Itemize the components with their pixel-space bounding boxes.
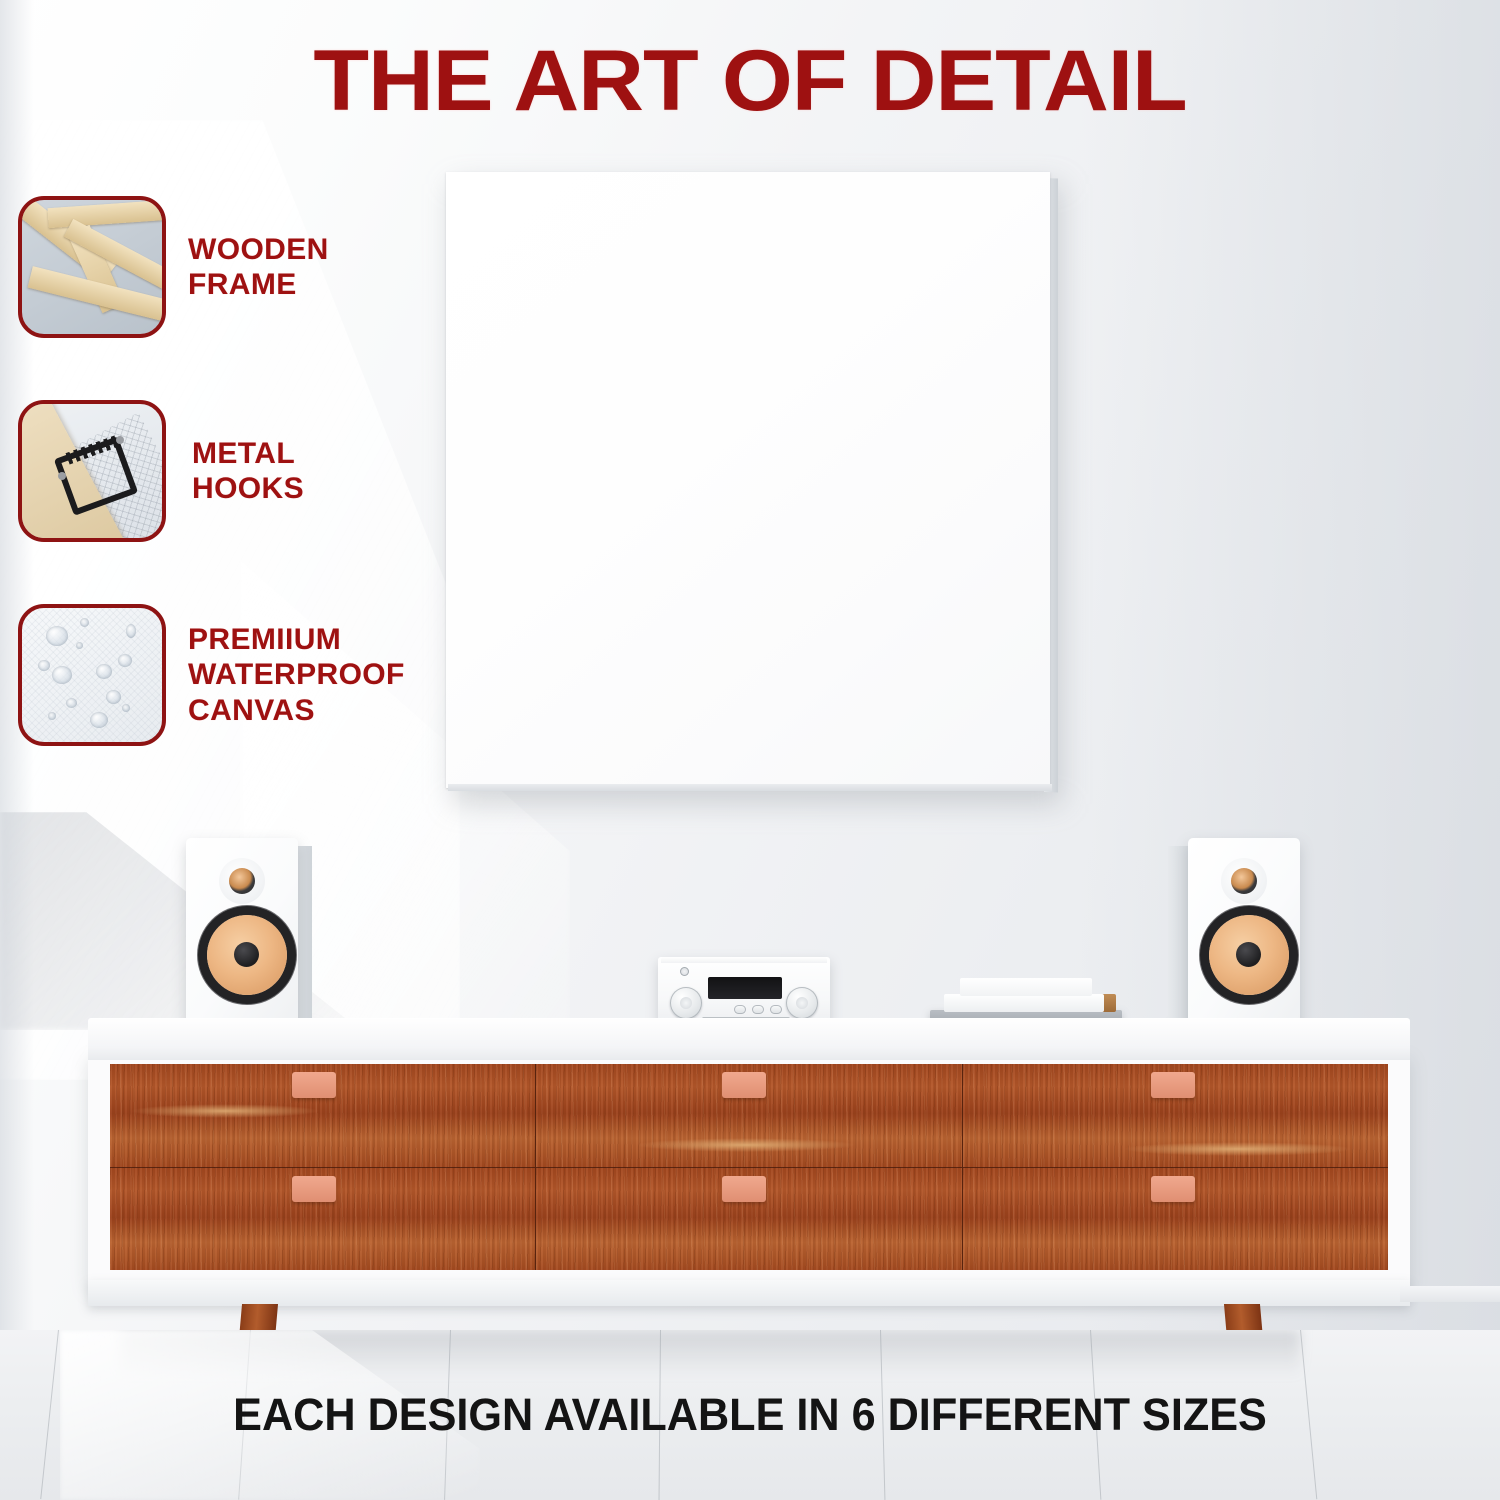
tweeter-dome-icon: [1231, 868, 1257, 894]
water-droplet: [126, 624, 136, 638]
waterproof-canvas-thumbnail: [18, 604, 166, 746]
right-bookshelf-speaker: [1168, 838, 1300, 1036]
volume-knob-left[interactable]: [670, 987, 702, 1019]
drawer-pull[interactable]: [292, 1176, 336, 1202]
receiver-display: [708, 977, 782, 999]
water-droplet: [48, 712, 56, 720]
receiver-top-panel: [661, 957, 827, 963]
drawer-pull[interactable]: [1151, 1176, 1195, 1202]
water-droplet: [46, 626, 68, 646]
sideboard-console: [88, 1018, 1410, 1308]
stretcher-bar: [47, 200, 166, 228]
drawer-pull[interactable]: [1151, 1072, 1195, 1098]
product-feature-image: THE ART OF DETAIL WOODEN FRAME: [0, 0, 1500, 1500]
left-bookshelf-speaker: [186, 838, 318, 1036]
page-title: THE ART OF DETAIL: [0, 38, 1500, 124]
feature-label-line: CANVAS: [188, 693, 405, 728]
woofer-dust-cap: [1236, 942, 1261, 967]
wood-knot: [636, 1138, 856, 1152]
water-droplet: [122, 704, 130, 712]
feature-label-line: HOOKS: [192, 471, 304, 506]
wood-knot: [130, 1104, 320, 1118]
transport-button-3[interactable]: [770, 1005, 782, 1014]
metal-hooks-thumbnail: [18, 400, 166, 542]
feature-label-metal-hooks: METAL HOOKS: [192, 436, 304, 507]
feature-label-waterproof-canvas: PREMIIUM WATERPROOF CANVAS: [188, 622, 405, 728]
water-droplet: [96, 664, 112, 679]
drawer-pull[interactable]: [722, 1176, 766, 1202]
transport-button-1[interactable]: [734, 1005, 746, 1014]
feature-label-line: WATERPROOF: [188, 657, 405, 692]
drawer-grid: [110, 1064, 1388, 1270]
drawer[interactable]: [110, 1168, 535, 1270]
feature-item-metal-hooks[interactable]: METAL HOOKS: [18, 400, 448, 542]
water-droplet: [118, 654, 132, 667]
water-droplet: [76, 642, 83, 649]
bottom-caption: EACH DESIGN AVAILABLE IN 6 DIFFERENT SIZ…: [30, 1392, 1470, 1437]
water-droplet: [66, 698, 77, 708]
speaker-front-baffle: [1188, 838, 1300, 1034]
feature-label-line: PREMIIUM: [188, 622, 405, 657]
water-droplet: [38, 660, 50, 671]
drawer-pull[interactable]: [292, 1072, 336, 1098]
drawer-pull[interactable]: [722, 1072, 766, 1098]
sideboard-base-rail: [88, 1280, 1410, 1306]
book-white-upper: [960, 978, 1092, 996]
feature-list: WOODEN FRAME METAL HOOKS: [18, 196, 448, 808]
sideboard-case: [88, 1054, 1410, 1286]
nail-icon: [116, 436, 124, 444]
water-droplet: [52, 666, 72, 684]
drawer[interactable]: [963, 1064, 1388, 1168]
wall-baseboard: [1400, 1286, 1500, 1302]
feature-label-line: METAL: [192, 436, 304, 471]
transport-button-2[interactable]: [752, 1005, 764, 1014]
sideboard-top-surface: [88, 1018, 1410, 1060]
drawer-column-right: [963, 1064, 1388, 1270]
feature-item-wooden-frame[interactable]: WOODEN FRAME: [18, 196, 448, 338]
feature-label-line: WOODEN: [188, 232, 329, 267]
water-droplet: [106, 690, 121, 704]
drawer[interactable]: [536, 1168, 961, 1270]
nail-icon: [58, 472, 66, 480]
feature-label-line: FRAME: [188, 267, 329, 302]
volume-knob-right[interactable]: [786, 987, 818, 1019]
drawer-column-left: [110, 1064, 536, 1270]
canvas-front-face: [446, 172, 1050, 788]
wood-knot: [1123, 1142, 1353, 1156]
woofer-dust-cap: [234, 942, 259, 967]
drawer-column-center: [536, 1064, 962, 1270]
tweeter-dome-icon: [229, 868, 255, 894]
drawer[interactable]: [110, 1064, 535, 1168]
water-droplet: [90, 712, 108, 728]
wooden-frame-thumbnail: [18, 196, 166, 338]
canvas-artwork-mockup: [446, 172, 1056, 792]
feature-item-waterproof-canvas[interactable]: PREMIIUM WATERPROOF CANVAS: [18, 604, 448, 746]
drawer[interactable]: [536, 1064, 961, 1168]
drawer[interactable]: [963, 1168, 1388, 1270]
canvas-bottom-edge: [448, 784, 1052, 791]
water-droplet: [80, 618, 89, 627]
feature-label-wooden-frame: WOODEN FRAME: [188, 232, 329, 303]
power-button-icon[interactable]: [680, 967, 689, 976]
speaker-front-baffle: [186, 838, 298, 1034]
book-white-lower: [944, 994, 1104, 1012]
